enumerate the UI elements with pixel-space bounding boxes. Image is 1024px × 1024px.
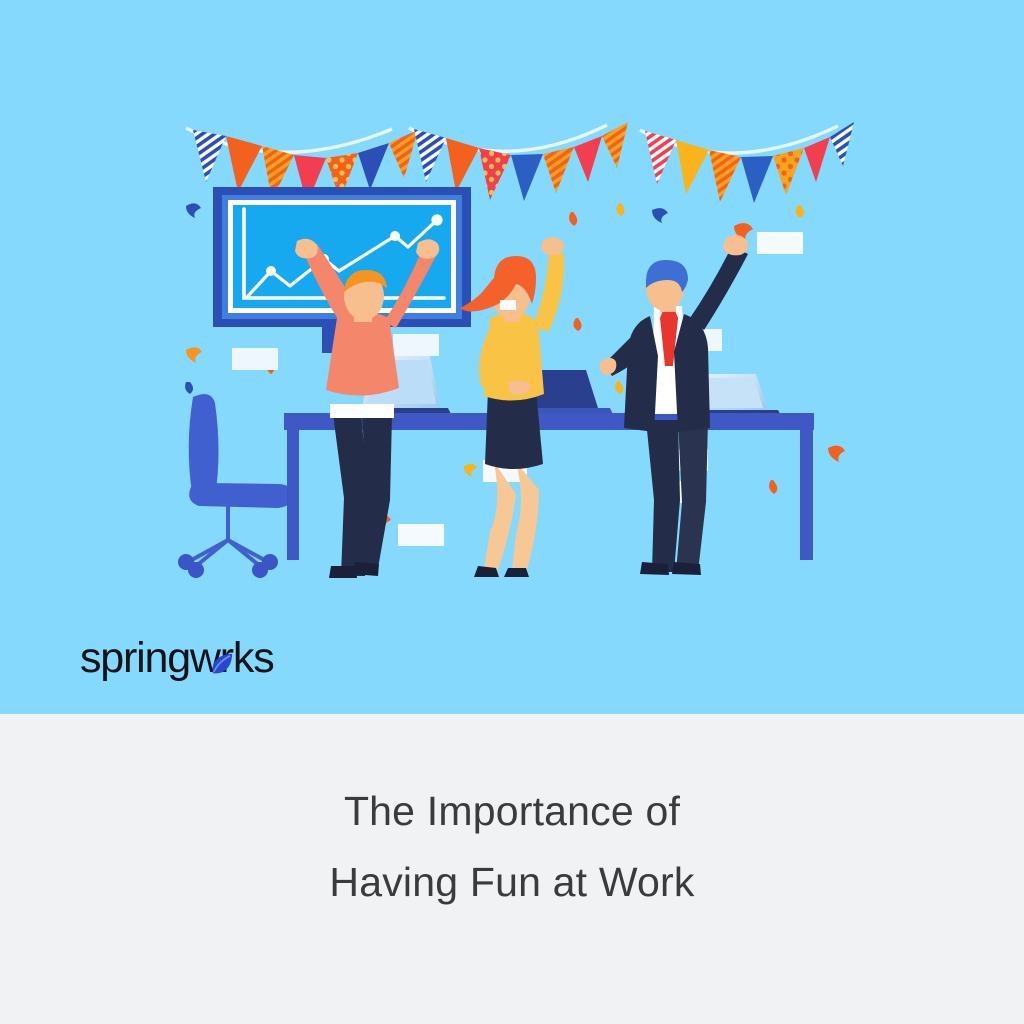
skirt [485,390,543,469]
blog-card: springw rks The Importance of Having Fun… [0,0,1024,1024]
desk-leg-right [800,430,813,560]
right-shoe [352,562,379,576]
hero-illustration-area: springw rks [0,0,1024,714]
raised-fist [541,237,564,255]
desk-leg-left [287,430,299,560]
page-title: The Importance of Having Fun at Work [132,776,892,917]
sweater [326,312,399,396]
raised-fist [723,235,748,255]
office-celebration-illustration [0,0,1024,714]
collar [500,300,516,310]
right-shoe [672,562,701,575]
shirt-hem [330,404,394,418]
confetti-paper [393,334,439,356]
confetti-paper [232,348,278,370]
confetti-paper [398,524,444,546]
logo-text-part1: springw [80,634,220,683]
left-shoe [640,562,669,575]
right-fist [416,239,439,259]
confetti-paper [757,232,803,254]
leaf-icon [209,651,234,676]
title-line-2: Having Fun at Work [132,847,892,918]
springworks-logo[interactable]: springw rks [80,633,274,683]
caption-area: The Importance of Having Fun at Work [0,714,1024,1024]
title-line-1: The Importance of [344,788,680,834]
right-heel [504,568,529,577]
